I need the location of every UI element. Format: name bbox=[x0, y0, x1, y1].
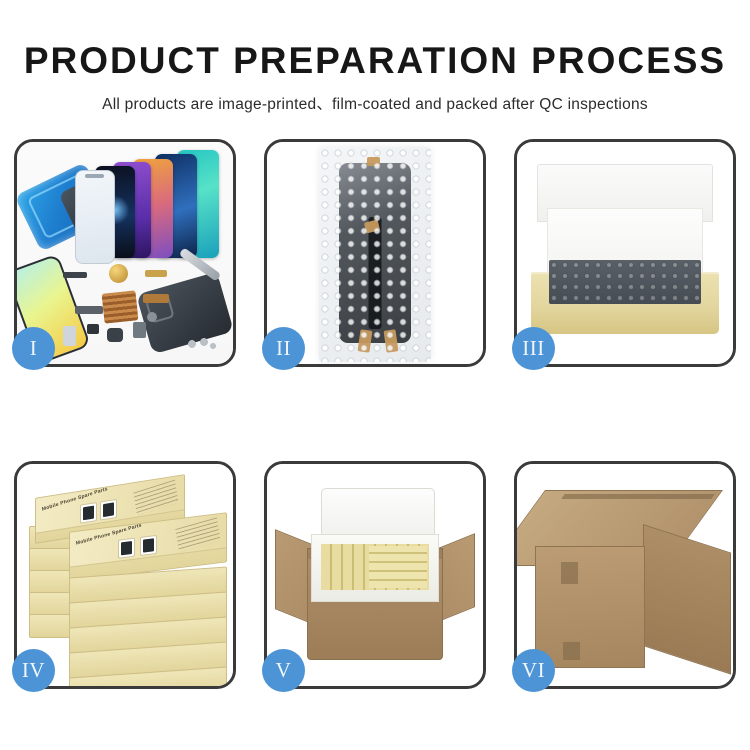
small-part bbox=[133, 322, 146, 338]
step-badge-3: III bbox=[512, 327, 555, 370]
process-step-5: V bbox=[264, 461, 486, 689]
step-badge-4: IV bbox=[12, 649, 55, 692]
open-yellow-box bbox=[531, 164, 719, 334]
tape-piece bbox=[367, 157, 380, 166]
box-phone-thumbnail bbox=[100, 499, 117, 521]
step-badge-2: II bbox=[262, 327, 305, 370]
process-step-2: II bbox=[264, 139, 486, 367]
box-phone-thumbnail bbox=[140, 535, 157, 556]
product-preparation-process-image: PRODUCT PREPARATION PROCESS All products… bbox=[0, 0, 750, 750]
header: PRODUCT PREPARATION PROCESS All products… bbox=[0, 0, 750, 114]
copper-chip-grid bbox=[102, 290, 139, 323]
small-part bbox=[143, 294, 169, 303]
step-3-photo bbox=[517, 142, 733, 364]
small-part bbox=[147, 312, 157, 322]
step-badge-5: V bbox=[262, 649, 305, 692]
carton-tape bbox=[563, 642, 580, 660]
step-4-photo: Mobile Phone Spare Parts Mobile Phone Sp… bbox=[17, 464, 233, 686]
step-1-photo bbox=[17, 142, 233, 364]
page-title: PRODUCT PREPARATION PROCESS bbox=[0, 42, 750, 81]
small-part bbox=[63, 272, 87, 278]
step-badge-6: VI bbox=[512, 649, 555, 692]
page-subtitle: All products are image-printed、film-coat… bbox=[0, 92, 750, 114]
wrapped-item-in-box bbox=[549, 260, 701, 304]
process-step-6: VI bbox=[514, 461, 736, 689]
tempered-glass-sheet bbox=[75, 170, 115, 264]
screen-flex-cable bbox=[369, 217, 382, 329]
box-phone-thumbnail bbox=[118, 538, 135, 559]
process-step-3: III bbox=[514, 139, 736, 367]
box-stack: Mobile Phone Spare Parts Mobile Phone Sp… bbox=[25, 480, 225, 676]
phone-screen-fan bbox=[89, 148, 233, 266]
carton-front-face bbox=[535, 546, 645, 668]
gold-coil-part bbox=[109, 264, 128, 283]
packed-yellow-boxes bbox=[369, 546, 427, 588]
small-part bbox=[75, 306, 103, 314]
bubble-wrap-bag bbox=[319, 147, 431, 362]
process-step-4: Mobile Phone Spare Parts Mobile Phone Sp… bbox=[14, 461, 236, 689]
process-step-grid: I II bbox=[14, 139, 736, 689]
carton-side-face bbox=[643, 524, 731, 675]
tape-piece bbox=[358, 329, 373, 352]
sealed-carton bbox=[535, 490, 717, 660]
step-6-photo bbox=[517, 464, 733, 686]
small-part bbox=[87, 324, 99, 334]
screws bbox=[187, 338, 217, 350]
step-badge-1: I bbox=[12, 327, 55, 370]
open-carton bbox=[277, 488, 473, 660]
process-step-1: I bbox=[14, 139, 236, 367]
carton-tape bbox=[561, 562, 578, 584]
small-part bbox=[145, 270, 167, 277]
box-phone-thumbnail bbox=[80, 502, 97, 524]
step-5-photo bbox=[267, 464, 483, 686]
carton-seam bbox=[561, 494, 715, 499]
small-part bbox=[107, 328, 123, 342]
step-2-photo bbox=[267, 142, 483, 364]
small-part bbox=[63, 326, 76, 346]
